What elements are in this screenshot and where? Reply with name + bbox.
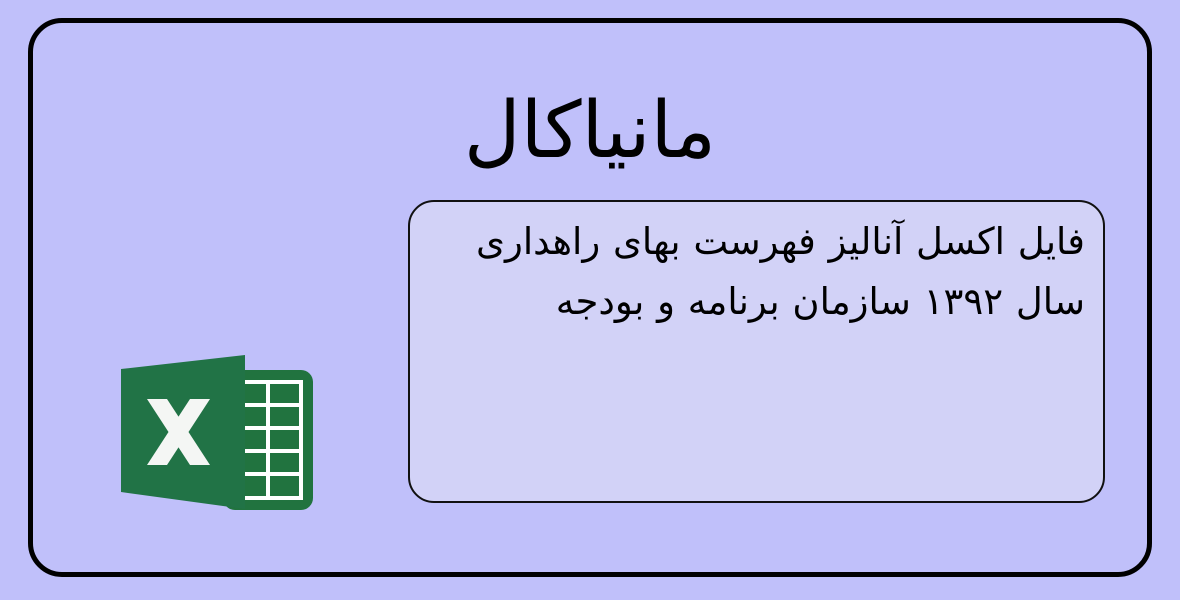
description-text: فایل اکسل آنالیز فهرست بهای راهداری سال … [428, 212, 1085, 332]
microsoft-excel-icon [115, 337, 315, 522]
page-title: مانیاکال [33, 83, 1147, 181]
description-panel: فایل اکسل آنالیز فهرست بهای راهداری سال … [408, 200, 1105, 503]
document-card: مانیاکال فایل اکسل آنالیز فهرست بهای راه… [28, 18, 1152, 577]
